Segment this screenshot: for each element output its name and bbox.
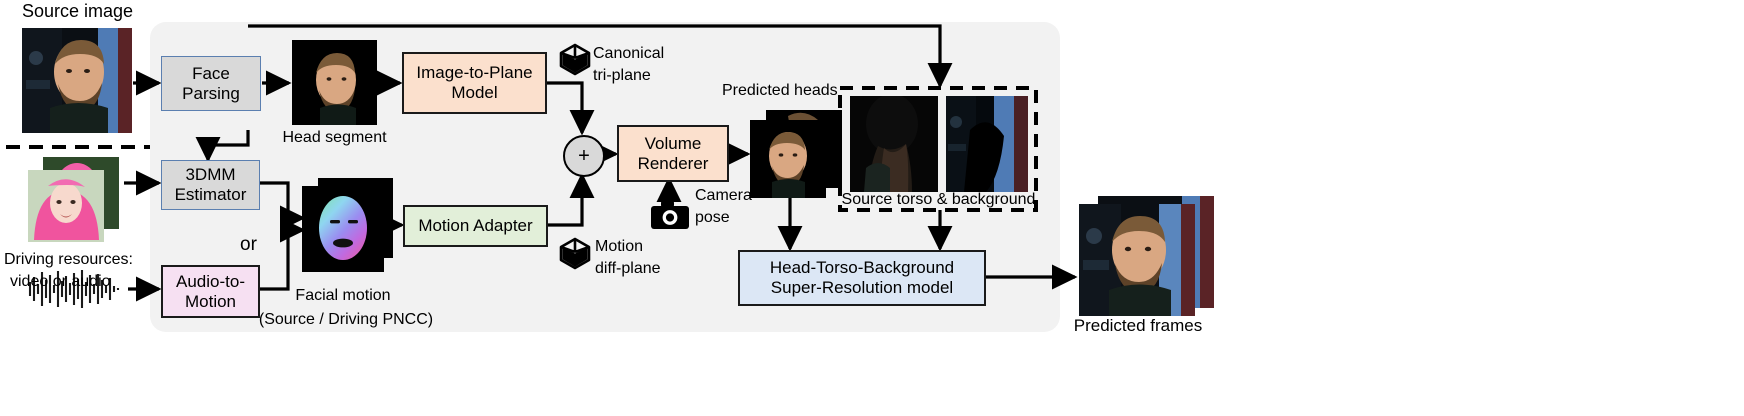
volume-renderer-label-line2: Renderer — [638, 154, 709, 174]
source-image-thumbnail — [22, 28, 132, 133]
image-to-plane-block[interactable]: Image-to-Plane Model — [402, 52, 547, 114]
driving-resources-label-line2: video or audio — [10, 272, 111, 291]
source-background-thumbnail — [946, 96, 1028, 192]
image-to-plane-label-line1: Image-to-Plane — [416, 63, 532, 83]
camera-pose-label-line2: pose — [695, 208, 730, 227]
volume-renderer-block[interactable]: Volume Renderer — [617, 125, 729, 182]
source-torso-thumbnail — [850, 96, 938, 192]
camera-pose-label-line1: Camera — [695, 186, 752, 205]
facial-motion-thumbnail — [302, 186, 384, 272]
motion-diffplane-label-line1: Motion — [595, 237, 643, 256]
predicted-head-thumbnail — [750, 120, 826, 198]
facial-motion-sublabel: (Source / Driving PNCC) — [253, 310, 439, 329]
face-parsing-label-line2: Parsing — [182, 84, 240, 104]
diagram-canvas: Face Parsing Image-to-Plane Model 3DMM E… — [0, 0, 1744, 416]
super-resolution-block[interactable]: Head-Torso-Background Super-Resolution m… — [738, 250, 986, 306]
volume-renderer-label-line1: Volume — [645, 134, 702, 154]
audio-to-motion-label-line2: Motion — [185, 292, 236, 312]
motion-adapter-label: Motion Adapter — [418, 216, 532, 236]
super-resolution-label-line1: Head-Torso-Background — [770, 258, 954, 278]
predicted-heads-label: Predicted heads — [722, 81, 838, 100]
audio-to-motion-block[interactable]: Audio-to- Motion — [161, 265, 260, 318]
super-resolution-label-line2: Super-Resolution model — [771, 278, 953, 298]
predicted-frame-thumbnail — [1079, 204, 1195, 316]
head-segment-label: Head segment — [272, 128, 397, 147]
image-to-plane-label-line2: Model — [451, 83, 497, 103]
motion-diffplane-label-line2: diff-plane — [595, 259, 661, 278]
3dmm-estimator-block[interactable]: 3DMM Estimator — [161, 160, 260, 210]
or-label: or — [240, 234, 257, 257]
source-torso-background-label: Source torso & background — [840, 190, 1037, 209]
canonical-triplane-label-line1: Canonical — [593, 44, 664, 63]
face-parsing-block[interactable]: Face Parsing — [161, 56, 261, 111]
facial-motion-label: Facial motion — [278, 286, 408, 305]
camera-icon — [650, 200, 690, 230]
driving-video-thumbnail — [28, 170, 104, 242]
cube-icon-motion-diffplane — [558, 236, 592, 270]
driving-resources-label-line1: Driving resources: — [4, 250, 133, 269]
head-segment-thumbnail — [292, 40, 377, 125]
source-image-label: Source image — [22, 1, 133, 23]
motion-adapter-block[interactable]: Motion Adapter — [403, 205, 548, 247]
3dmm-estimator-label-line2: Estimator — [175, 185, 247, 205]
sum-node-symbol: + — [578, 145, 590, 168]
predicted-frames-label: Predicted frames — [1073, 316, 1203, 336]
audio-to-motion-label-line1: Audio-to- — [176, 272, 245, 292]
3dmm-estimator-label-line1: 3DMM — [185, 165, 235, 185]
canonical-triplane-label-line2: tri-plane — [593, 66, 651, 85]
face-parsing-label-line1: Face — [192, 64, 230, 84]
cube-icon-canonical-triplane — [558, 42, 592, 76]
sum-node[interactable]: + — [563, 135, 605, 177]
